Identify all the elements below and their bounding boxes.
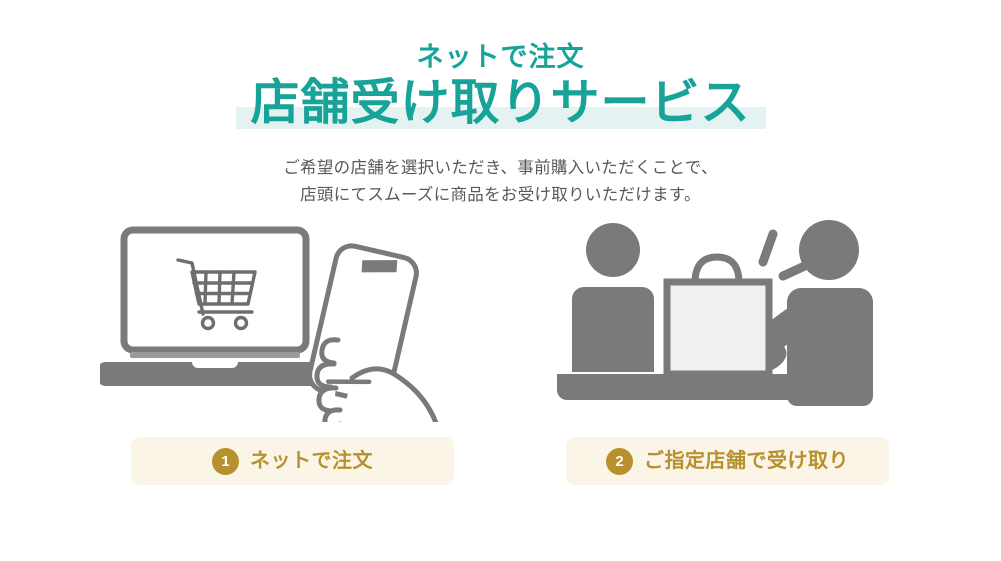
step-2-pill: 2 ご指定店舗で受け取り — [566, 437, 889, 485]
illustration-store-pickup — [555, 218, 895, 423]
step-1-badge: 1 — [212, 448, 239, 475]
laptop-and-smartphone-illustration — [100, 222, 480, 422]
customer-body-icon — [572, 287, 654, 372]
laptop-hinge — [130, 352, 300, 358]
laptop-screen-icon — [124, 230, 306, 350]
motion-line-2-icon — [783, 264, 809, 276]
laptop-base — [100, 362, 334, 386]
description-line-1: ご希望の店舗を選択いただき、事前購入いただくことで、 — [0, 155, 1001, 182]
motion-line-1-icon — [763, 234, 773, 262]
step-1-pill: 1 ネットで注文 — [131, 437, 454, 485]
counter-handover-illustration — [555, 218, 895, 423]
title-wrapper: 店舗受け取りサービス — [0, 79, 1001, 139]
step-1-label: ネットで注文 — [250, 451, 373, 471]
illustration-online-order — [100, 222, 480, 422]
banner-title: 店舗受け取りサービス — [0, 79, 1001, 128]
headline-block: ネットで注文 店舗受け取りサービス — [0, 44, 1001, 139]
promo-banner: ネットで注文 店舗受け取りサービス ご希望の店舗を選択いただき、事前購入いただく… — [0, 0, 1001, 561]
counter-icon — [557, 374, 809, 400]
step-2-label: ご指定店舗で受け取り — [644, 451, 849, 471]
customer-head-icon — [586, 223, 640, 277]
description-line-2: 店頭にてスムーズに商品をお受け取りいただけます。 — [0, 182, 1001, 209]
staff-head-icon — [799, 220, 859, 280]
step-2-badge: 2 — [606, 448, 633, 475]
banner-description: ご希望の店舗を選択いただき、事前購入いただくことで、 店頭にてスムーズに商品をお… — [0, 155, 1001, 209]
banner-subtitle: ネットで注文 — [0, 44, 1001, 71]
shopping-bag-icon — [667, 282, 769, 374]
